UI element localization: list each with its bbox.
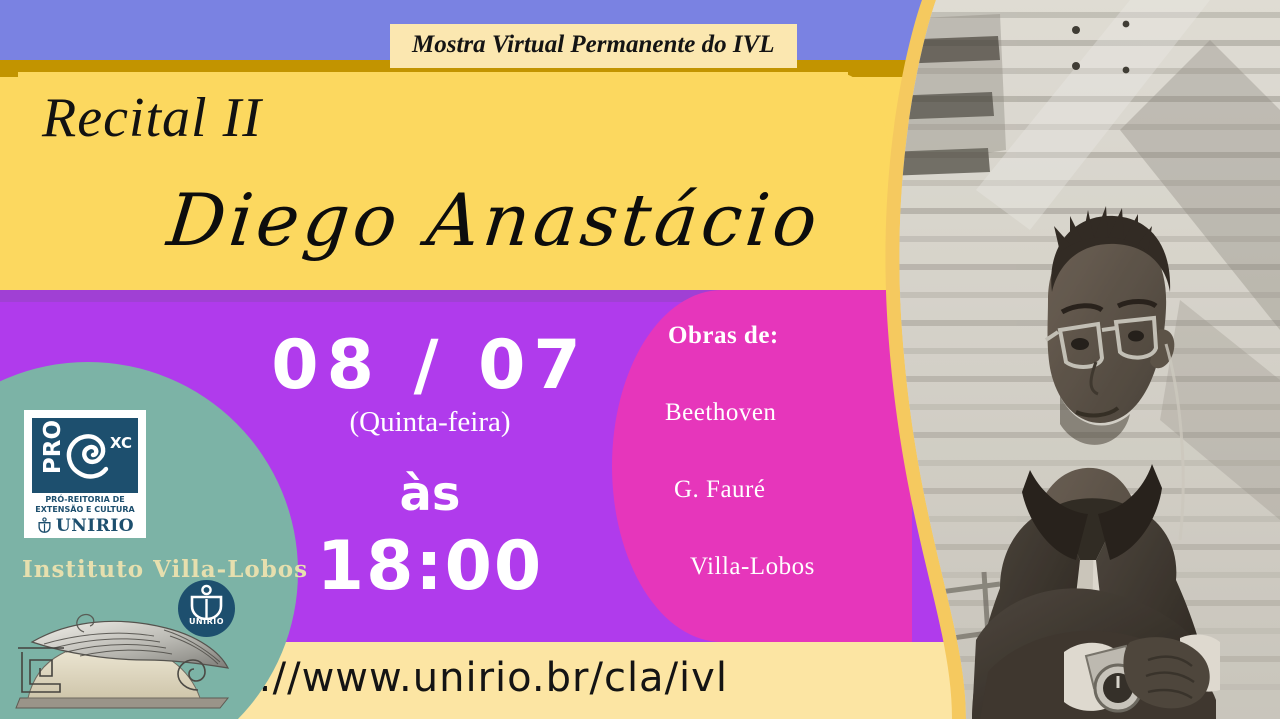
proexc-subtitle-line1: PRÓ-REITORIA DE (45, 495, 124, 504)
time-preposition: às (240, 466, 620, 522)
unirio-crest-icon (178, 580, 235, 620)
proexc-logo: PRO XC PRÓ-REITORIA DE EXTENSÃO E CULTUR… (24, 410, 146, 538)
series-label: Mostra Virtual Permanente do IVL (390, 24, 797, 68)
proexc-xc-text: XC (110, 434, 132, 452)
composer-name: Beethoven (665, 399, 776, 427)
ivl-unirio-badge-label: UNIRIO (178, 617, 235, 626)
event-poster: Recital II Diego Anastácio Mostra Virtua… (0, 0, 1280, 719)
composer-name: G. Fauré (674, 476, 765, 504)
proexc-university-name: UNIRIO (56, 516, 134, 536)
event-date: 08 / 07 (240, 326, 620, 405)
proexc-spiral-icon (62, 428, 116, 482)
proexc-university-row: UNIRIO (32, 516, 138, 536)
event-weekday: (Quinta-feira) (240, 406, 620, 439)
ivl-institute-title: Instituto Villa-Lobos (22, 556, 308, 583)
event-title: Recital II (42, 86, 262, 150)
program-heading: Obras de: (668, 322, 779, 350)
unirio-crest-icon (36, 517, 53, 534)
ivl-unirio-badge: UNIRIO (178, 580, 235, 637)
proexc-subtitle-line2: EXTENSÃO E CULTURA (35, 505, 134, 514)
artist-name: Diego Anastácio (164, 178, 825, 262)
proexc-subtitle: PRÓ-REITORIA DE EXTENSÃO E CULTURA (32, 495, 138, 515)
proexc-logo-mark: PRO XC (32, 418, 138, 493)
composer-name: Villa-Lobos (690, 553, 815, 581)
artist-photo-container (880, 0, 1280, 719)
